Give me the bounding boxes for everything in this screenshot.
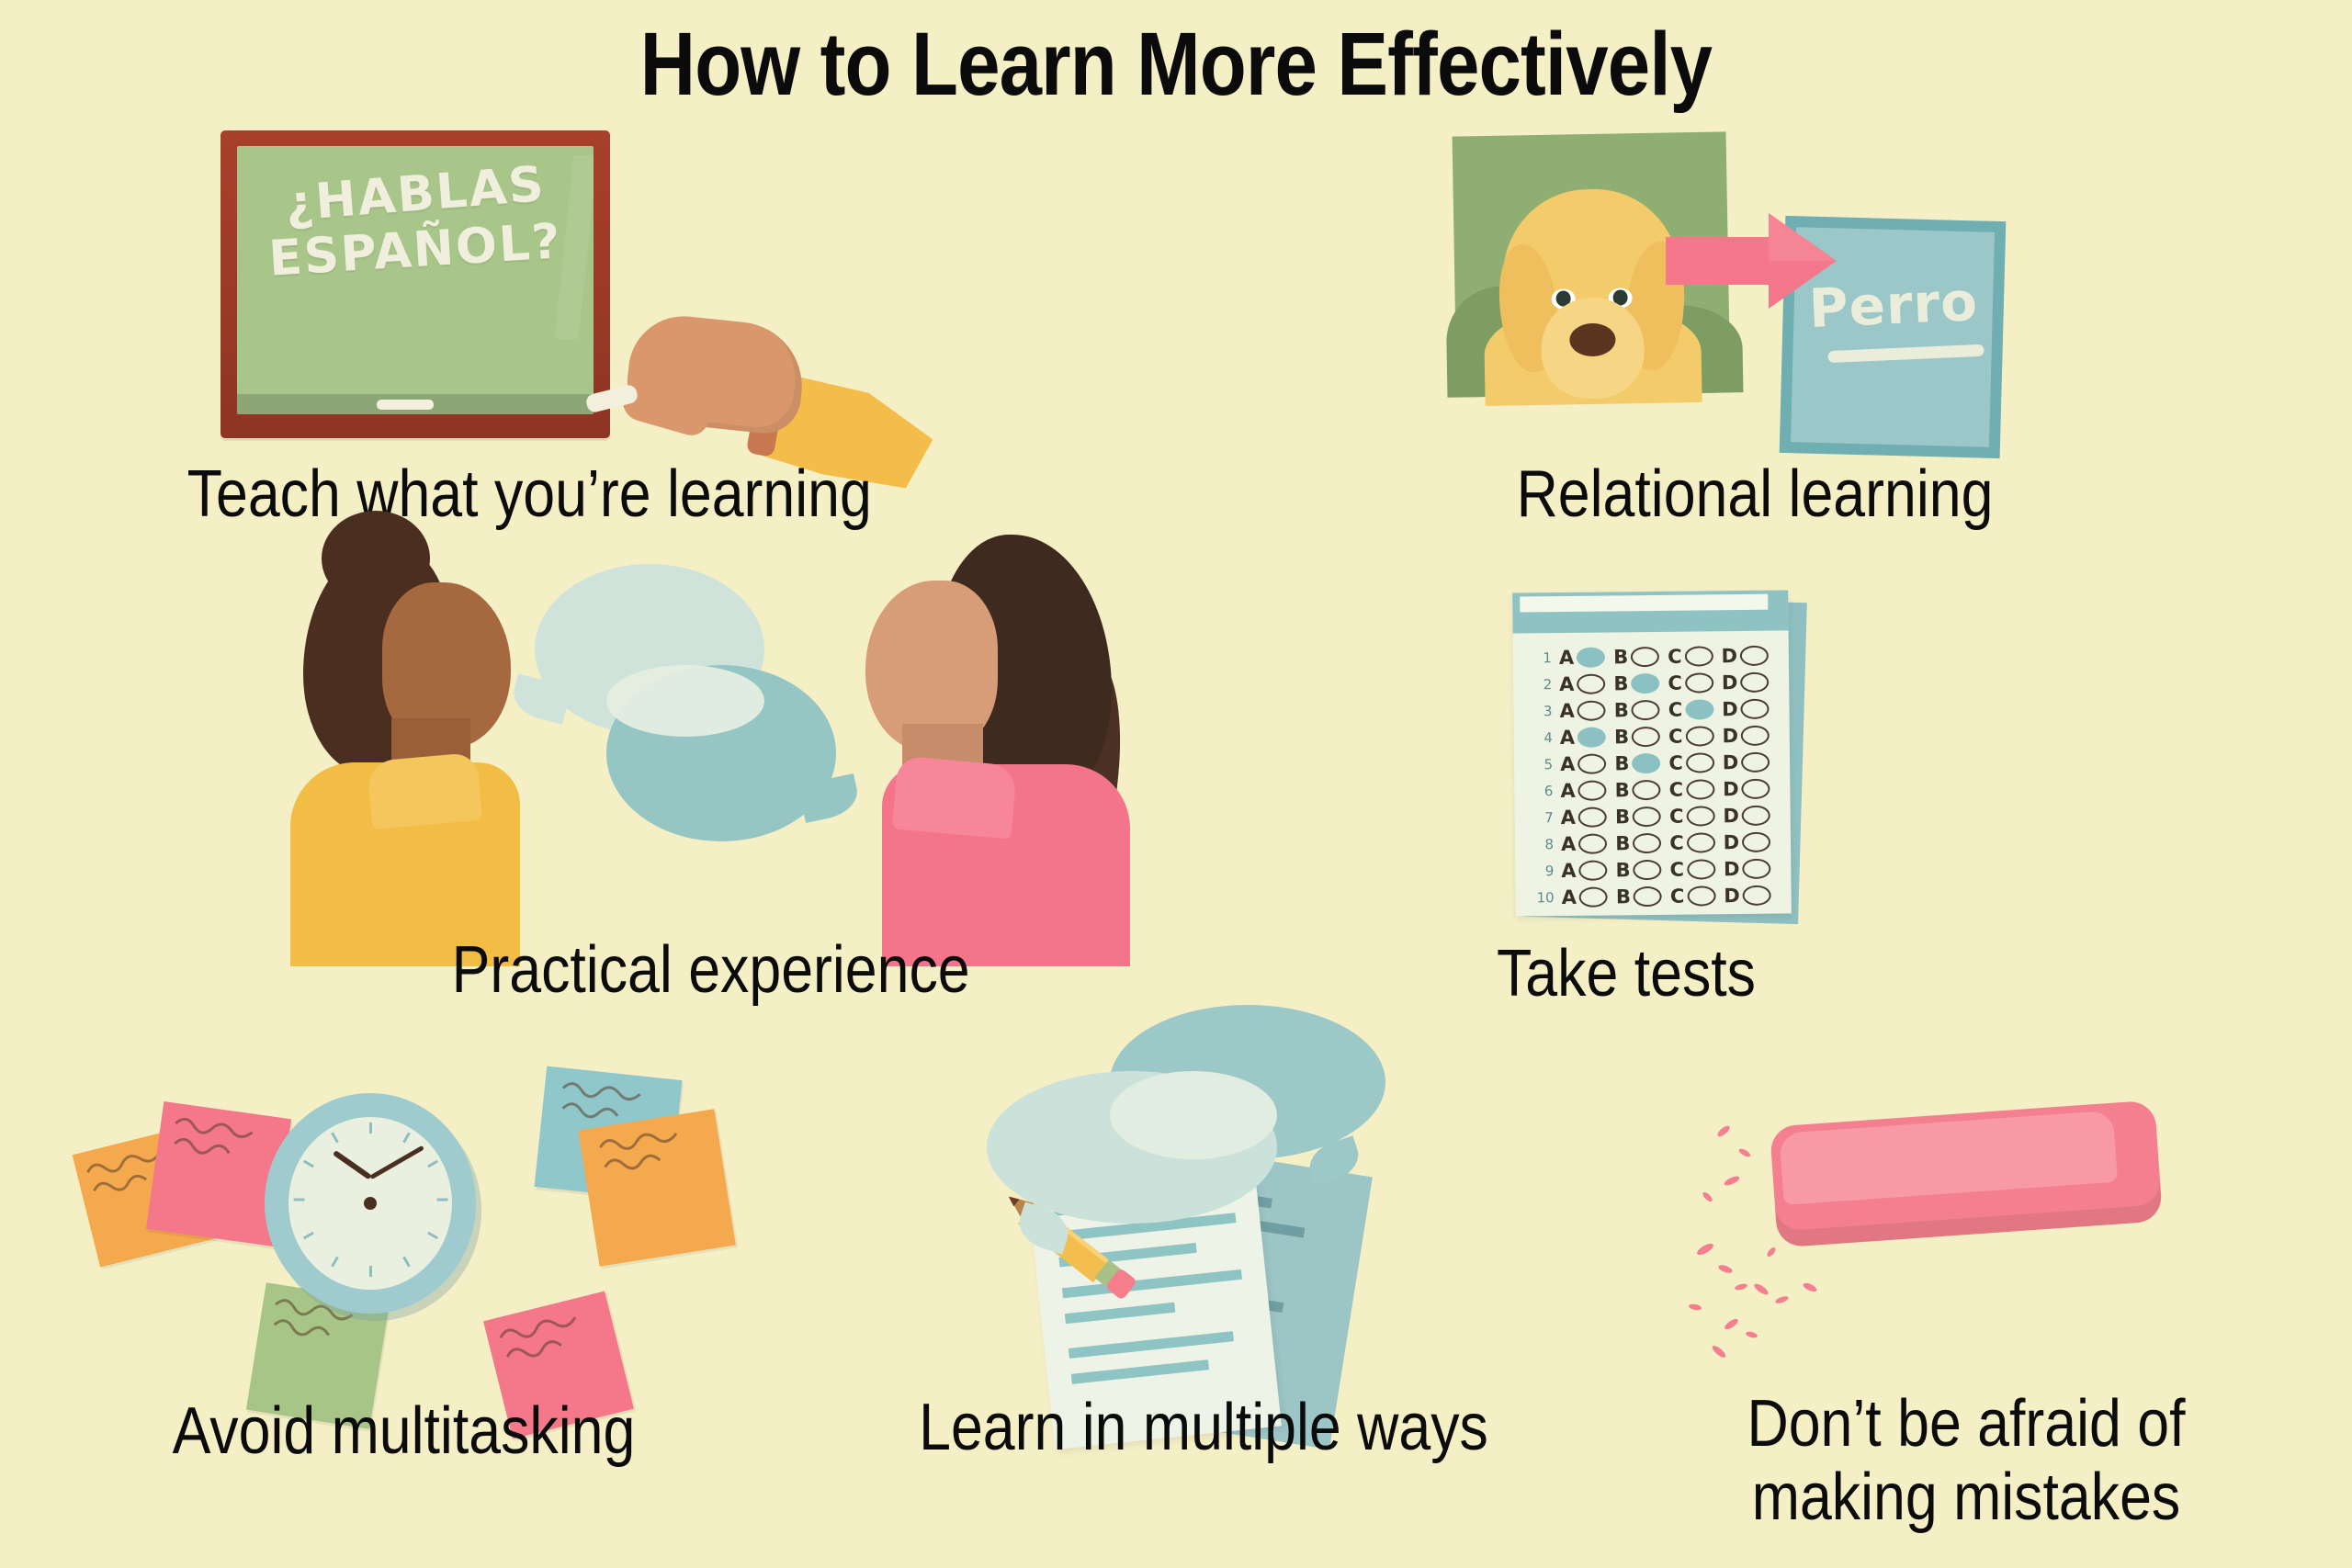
- answer-option-letter: A: [1560, 752, 1576, 774]
- answer-row-number: 1: [1528, 649, 1552, 666]
- answer-option[interactable]: A: [1561, 859, 1608, 882]
- answer-bubble[interactable]: [1741, 751, 1770, 772]
- answer-option-letter: A: [1561, 859, 1577, 881]
- clock-tick: [303, 1232, 314, 1240]
- answer-option-letter: B: [1614, 699, 1629, 721]
- answer-option[interactable]: B: [1616, 885, 1662, 908]
- clock-tick: [427, 1160, 438, 1168]
- answer-row[interactable]: 4ABCD: [1529, 722, 1781, 751]
- clock-icon: [265, 1093, 476, 1314]
- illustration-multiple-ways: [937, 1010, 1470, 1451]
- answer-option[interactable]: A: [1559, 646, 1606, 669]
- answer-option-letter: C: [1669, 831, 1684, 853]
- answer-option-letter: B: [1615, 859, 1630, 881]
- chalkboard-frame: ¿HABLAS ESPAÑOL?: [220, 130, 610, 438]
- right-arrow-icon: [1666, 209, 1837, 312]
- name-field: [1520, 594, 1768, 613]
- answer-option[interactable]: B: [1615, 778, 1661, 801]
- speech-bubble-overlap: [606, 665, 764, 737]
- answer-option-letter: D: [1723, 751, 1739, 773]
- answer-row-number: 4: [1529, 729, 1553, 746]
- caption-mistakes-line1: Don’t be afraid of: [1702, 1389, 2230, 1459]
- answer-option[interactable]: C: [1668, 698, 1714, 721]
- answer-option-letter: C: [1669, 858, 1684, 880]
- clock-tick: [402, 1133, 411, 1144]
- answer-sheet-header: [1512, 590, 1788, 633]
- answer-bubble[interactable]: [1741, 778, 1770, 798]
- answer-bubble[interactable]: [1577, 727, 1606, 747]
- answer-option[interactable]: A: [1559, 699, 1606, 722]
- answer-option[interactable]: C: [1668, 671, 1713, 694]
- answer-bubble[interactable]: [1578, 807, 1607, 827]
- answer-bubble[interactable]: [1686, 779, 1714, 799]
- answer-option-letter: D: [1722, 671, 1738, 694]
- answer-option-letter: D: [1722, 698, 1738, 720]
- answer-option[interactable]: B: [1615, 831, 1661, 854]
- answer-option[interactable]: A: [1560, 752, 1607, 775]
- answer-option[interactable]: D: [1722, 697, 1770, 720]
- answer-bubble[interactable]: [1578, 860, 1607, 880]
- answer-option[interactable]: C: [1668, 751, 1714, 774]
- eraser-crumb: [1716, 1124, 1732, 1139]
- answer-row-number: 6: [1529, 783, 1553, 799]
- answer-option-letter: A: [1559, 672, 1575, 694]
- answer-bubble[interactable]: [1633, 806, 1661, 826]
- answer-row[interactable]: 8ABCD: [1530, 829, 1781, 858]
- answer-option-letter: C: [1670, 885, 1685, 907]
- answer-option[interactable]: B: [1614, 751, 1660, 774]
- caption-mistakes-line2: making mistakes: [1702, 1462, 2230, 1532]
- eraser-icon: [1770, 1100, 2163, 1248]
- answer-option[interactable]: A: [1559, 672, 1606, 695]
- answer-option-letter: A: [1559, 699, 1575, 721]
- answer-option[interactable]: A: [1560, 779, 1607, 802]
- caption-relational: Relational learning: [1507, 459, 2002, 529]
- answer-option[interactable]: D: [1722, 671, 1770, 694]
- chalkboard-surface: ¿HABLAS ESPAÑOL?: [237, 146, 594, 414]
- eraser-crumb: [1702, 1190, 1713, 1202]
- eraser-highlight: [1779, 1111, 2118, 1205]
- page-title: How to Learn More Effectively: [164, 13, 2188, 116]
- eraser-crumb: [1689, 1303, 1702, 1311]
- answer-row-number: 3: [1528, 703, 1552, 719]
- answer-row-number: 9: [1530, 863, 1554, 879]
- answer-option[interactable]: B: [1613, 645, 1659, 668]
- answer-option[interactable]: A: [1561, 832, 1608, 855]
- answer-rows: 1ABCD2ABCD3ABCD4ABCD5ABCD6ABCD7ABCD8ABCD…: [1528, 642, 1782, 911]
- answer-bubble[interactable]: [1740, 671, 1769, 692]
- answer-bubble[interactable]: [1632, 726, 1660, 746]
- speech-bubble-overlap-papers: [1110, 1071, 1277, 1159]
- answer-option[interactable]: D: [1724, 857, 1771, 880]
- answer-option-letter: B: [1615, 832, 1630, 854]
- answer-option-letter: D: [1721, 645, 1737, 667]
- eraser-crumb: [1802, 1281, 1817, 1293]
- answer-bubble[interactable]: [1577, 673, 1605, 694]
- answer-option-letter: C: [1669, 805, 1684, 827]
- clock-hub: [364, 1197, 377, 1210]
- answer-bubble[interactable]: [1631, 672, 1659, 693]
- answer-option-letter: B: [1613, 646, 1628, 668]
- answer-bubble[interactable]: [1742, 858, 1770, 878]
- eraser-crumb: [1717, 1263, 1733, 1274]
- answer-option[interactable]: B: [1615, 858, 1661, 881]
- eraser-crumb: [1737, 1147, 1751, 1158]
- answer-row[interactable]: 6ABCD: [1529, 775, 1781, 805]
- answer-option[interactable]: C: [1668, 645, 1713, 668]
- answer-bubble[interactable]: [1633, 832, 1661, 852]
- answer-option-letter: D: [1723, 805, 1739, 827]
- answer-row[interactable]: 1ABCD: [1528, 642, 1780, 671]
- answer-option[interactable]: D: [1723, 777, 1770, 800]
- eraser-crumb: [1774, 1295, 1789, 1305]
- answer-bubble[interactable]: [1633, 779, 1661, 799]
- scribble-icon: [164, 1111, 277, 1168]
- answer-option[interactable]: A: [1561, 806, 1608, 829]
- answer-option[interactable]: C: [1669, 778, 1715, 801]
- answer-option-letter: C: [1668, 725, 1683, 747]
- clock-tick: [331, 1133, 339, 1144]
- scribble-icon: [492, 1303, 605, 1370]
- answer-bubble[interactable]: [1685, 726, 1713, 746]
- answer-option[interactable]: D: [1721, 644, 1769, 667]
- answer-bubble[interactable]: [1684, 646, 1713, 666]
- answer-bubble[interactable]: [1686, 806, 1714, 826]
- answer-bubble[interactable]: [1686, 752, 1714, 773]
- clock-tick: [369, 1122, 372, 1134]
- answer-bubble[interactable]: [1577, 647, 1605, 667]
- answer-row[interactable]: 9ABCD: [1530, 855, 1781, 885]
- answer-bubble[interactable]: [1741, 698, 1770, 718]
- clock-tick: [436, 1199, 447, 1201]
- answer-bubble[interactable]: [1578, 780, 1607, 800]
- answer-row-number: 10: [1531, 889, 1555, 906]
- answer-option-letter: C: [1668, 698, 1683, 720]
- caption-multitasking: Avoid multitasking: [173, 1396, 636, 1466]
- answer-bubble[interactable]: [1631, 646, 1659, 666]
- answer-bubble[interactable]: [1633, 859, 1661, 879]
- answer-bubble[interactable]: [1579, 886, 1608, 907]
- answer-option-letter: D: [1723, 778, 1739, 800]
- chalk-stick-icon: [377, 400, 434, 410]
- answer-bubble[interactable]: [1741, 725, 1770, 745]
- answer-option[interactable]: B: [1614, 725, 1660, 748]
- answer-option[interactable]: A: [1560, 726, 1607, 749]
- answer-bubble[interactable]: [1743, 885, 1771, 905]
- answer-sheet: 1ABCD2ABCD3ABCD4ABCD5ABCD6ABCD7ABCD8ABCD…: [1512, 590, 1792, 916]
- answer-option-letter: B: [1614, 752, 1629, 774]
- answer-row[interactable]: 7ABCD: [1530, 802, 1781, 831]
- shirt-collar: [892, 755, 1017, 839]
- answer-row[interactable]: 10ABCD: [1530, 882, 1781, 911]
- answer-option-letter: A: [1560, 726, 1576, 748]
- answer-row-number: 8: [1530, 836, 1554, 852]
- answer-row[interactable]: 5ABCD: [1529, 749, 1781, 778]
- answer-row[interactable]: 3ABCD: [1528, 695, 1780, 725]
- turtleneck-collar: [367, 752, 482, 829]
- eraser-crumb: [1745, 1330, 1758, 1338]
- eraser-crumb: [1753, 1281, 1770, 1296]
- answer-option[interactable]: D: [1724, 830, 1771, 853]
- answer-option[interactable]: C: [1669, 805, 1715, 828]
- caption-practical: Practical experience: [452, 935, 964, 1005]
- answer-bubble[interactable]: [1740, 645, 1769, 665]
- clock-tick: [402, 1257, 411, 1268]
- person-left: [303, 544, 542, 966]
- answer-bubble[interactable]: [1632, 699, 1660, 719]
- answer-option[interactable]: B: [1613, 671, 1659, 694]
- answer-option-letter: C: [1668, 751, 1683, 773]
- answer-row-number: 5: [1529, 756, 1553, 773]
- answer-row[interactable]: 2ABCD: [1528, 669, 1780, 698]
- answer-bubble[interactable]: [1632, 752, 1660, 773]
- answer-bubble[interactable]: [1685, 699, 1713, 719]
- answer-bubble[interactable]: [1687, 886, 1715, 906]
- answer-option-letter: C: [1668, 645, 1682, 667]
- answer-option-letter: D: [1724, 858, 1740, 880]
- infographic-canvas: How to Learn More Effectively ¿HABLAS ES…: [0, 0, 2352, 1568]
- answer-option-letter: B: [1615, 806, 1630, 828]
- eraser-crumb: [1766, 1246, 1777, 1258]
- clock-tick: [303, 1160, 314, 1168]
- answer-option-letter: C: [1668, 671, 1682, 694]
- caption-multiple-ways: Learn in multiple ways: [908, 1393, 1499, 1462]
- eraser-crumb: [1734, 1282, 1747, 1291]
- answer-bubble[interactable]: [1578, 833, 1607, 853]
- answer-bubble[interactable]: [1577, 700, 1606, 720]
- answer-option[interactable]: B: [1614, 698, 1660, 721]
- illustration-practical: [303, 544, 1112, 966]
- answer-option-letter: A: [1562, 886, 1577, 908]
- answer-bubble[interactable]: [1685, 672, 1713, 693]
- caption-tests: Take tests: [1442, 939, 1810, 1009]
- answer-bubble[interactable]: [1687, 859, 1715, 879]
- clock-tick: [427, 1232, 438, 1240]
- answer-option-letter: A: [1561, 806, 1577, 828]
- answer-row-number: 7: [1530, 809, 1554, 826]
- eraser-crumb: [1724, 1317, 1740, 1331]
- answer-bubble[interactable]: [1687, 832, 1715, 852]
- answer-option[interactable]: C: [1668, 725, 1714, 748]
- answer-option[interactable]: D: [1724, 884, 1771, 907]
- dog-head: [1502, 187, 1681, 370]
- answer-bubble[interactable]: [1577, 753, 1606, 773]
- clock-tick: [369, 1266, 372, 1277]
- person-right: [836, 544, 1112, 966]
- answer-option-letter: D: [1724, 885, 1740, 907]
- answer-bubble[interactable]: [1634, 886, 1662, 906]
- eraser-crumb: [1695, 1242, 1714, 1258]
- answer-bubble[interactable]: [1742, 831, 1770, 852]
- clock-tick: [293, 1199, 304, 1201]
- answer-option[interactable]: A: [1562, 886, 1609, 908]
- answer-option-letter: D: [1722, 725, 1738, 747]
- clock-tick: [331, 1257, 339, 1268]
- scribble-icon: [587, 1120, 710, 1179]
- answer-bubble[interactable]: [1742, 805, 1770, 825]
- answer-option-letter: C: [1669, 778, 1684, 800]
- sticky-note[interactable]: [578, 1109, 736, 1267]
- answer-option-letter: A: [1561, 832, 1577, 854]
- flashcard-underline: [1827, 344, 1984, 363]
- answer-option[interactable]: D: [1723, 750, 1770, 773]
- answer-option[interactable]: D: [1723, 804, 1770, 827]
- answer-option-letter: D: [1724, 831, 1740, 853]
- answer-option-letter: B: [1615, 779, 1630, 801]
- chalkboard-text: ¿HABLAS ESPAÑOL?: [237, 168, 594, 276]
- answer-option-letter: A: [1560, 779, 1576, 801]
- answer-option-letter: A: [1559, 646, 1575, 668]
- answer-option[interactable]: C: [1669, 858, 1715, 881]
- answer-option[interactable]: B: [1615, 805, 1661, 828]
- answer-option-letter: B: [1616, 886, 1631, 908]
- eraser-crumb: [1723, 1175, 1740, 1188]
- answer-option-letter: B: [1614, 726, 1629, 748]
- answer-option[interactable]: D: [1722, 724, 1770, 747]
- caption-teach: Teach what you’re learning: [187, 459, 872, 529]
- eraser-crumb: [1711, 1344, 1727, 1359]
- answer-option[interactable]: C: [1669, 831, 1715, 854]
- answer-option-letter: B: [1613, 672, 1628, 694]
- answer-row-number: 2: [1528, 676, 1552, 693]
- answer-option[interactable]: C: [1670, 885, 1716, 908]
